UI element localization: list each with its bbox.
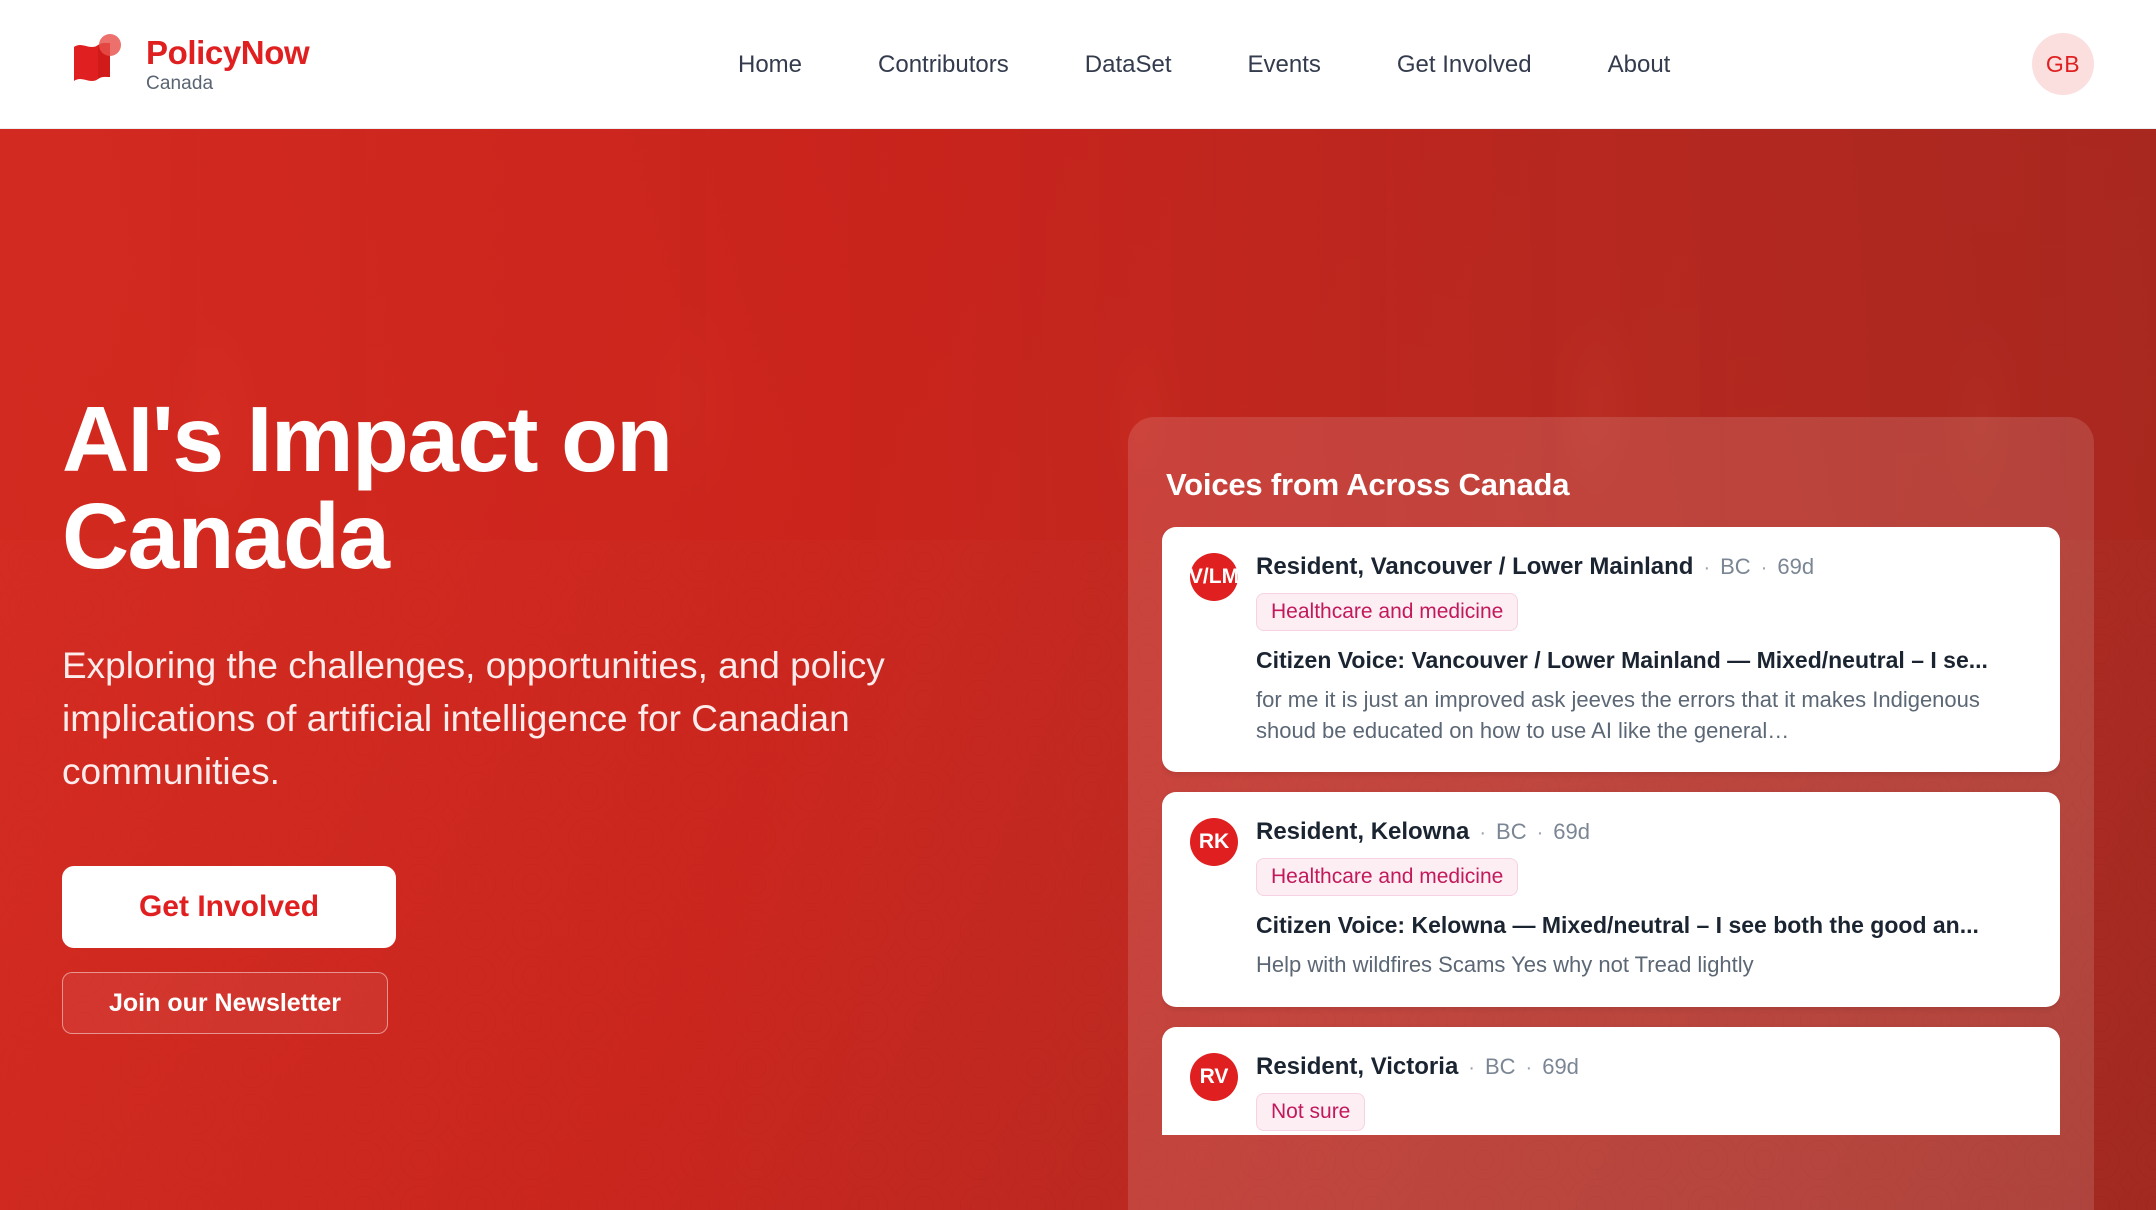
voice-meta: Resident, Vancouver / Lower Mainland · B… [1256,555,2032,579]
brand-logo[interactable]: PolicyNow Canada [66,33,309,95]
voice-card[interactable]: RK Resident, Kelowna · BC · 69d Healthca… [1162,792,2060,1006]
join-newsletter-button[interactable]: Join our Newsletter [62,972,388,1034]
voice-author: Resident, Kelowna [1256,818,1469,845]
hero-subtitle: Exploring the challenges, opportunities,… [62,640,992,798]
voice-avatar: RK [1190,818,1238,866]
hero-section: AI's Impact on Canada Exploring the chal… [0,129,2156,1210]
voice-topic-badge: Not sure [1256,1093,1365,1131]
nav-item-events[interactable]: Events [1209,51,1358,79]
voice-meta: Resident, Kelowna · BC · 69d [1256,820,2032,844]
voice-meta: Resident, Victoria · BC · 69d [1256,1055,2032,1079]
voices-panel-title: Voices from Across Canada [1166,467,2060,503]
voice-card[interactable]: RV Resident, Victoria · BC · 69d Not sur… [1162,1027,2060,1135]
voice-avatar: V/LM [1190,553,1238,601]
nav-item-about[interactable]: About [1570,51,1709,79]
voice-headline: Citizen Voice: Kelowna — Mixed/neutral –… [1256,912,2032,939]
nav-item-home[interactable]: Home [700,51,840,79]
voice-topic-badge: Healthcare and medicine [1256,593,1518,631]
meta-separator: · [1458,1057,1485,1079]
voice-avatar: RV [1190,1053,1238,1101]
voice-author: Resident, Vancouver / Lower Mainland [1256,553,1693,580]
voice-region: BC [1720,554,1751,579]
meta-separator: · [1516,1057,1543,1079]
hero-content: AI's Impact on Canada Exploring the chal… [62,391,1002,1034]
main-navigation: Home Contributors DataSet Events Get Inv… [700,0,1708,129]
nav-item-dataset[interactable]: DataSet [1047,51,1210,79]
hero-actions: Get Involved Join our Newsletter [62,866,1002,1034]
nav-item-get-involved[interactable]: Get Involved [1359,51,1570,79]
voice-topic-badge: Healthcare and medicine [1256,858,1518,896]
site-header: PolicyNow Canada Home Contributors DataS… [0,0,2156,129]
voice-timestamp: 69d [1542,1054,1579,1079]
meta-separator: · [1751,557,1778,579]
user-avatar[interactable]: GB [2032,33,2094,95]
voice-card[interactable]: V/LM Resident, Vancouver / Lower Mainlan… [1162,527,2060,772]
meta-separator: · [1693,557,1720,579]
voice-timestamp: 69d [1553,819,1590,844]
nav-item-contributors[interactable]: Contributors [840,51,1047,79]
voice-excerpt: for me it is just an improved ask jeeves… [1256,684,2032,746]
voice-headline: Citizen Voice: Vancouver / Lower Mainlan… [1256,647,2032,674]
flag-map-icon [66,33,128,95]
voices-panel: Voices from Across Canada V/LM Resident,… [1128,417,2094,1210]
brand-country: Canada [146,74,309,93]
voices-list[interactable]: V/LM Resident, Vancouver / Lower Mainlan… [1162,527,2060,1135]
get-involved-button[interactable]: Get Involved [62,866,396,948]
voice-region: BC [1496,819,1527,844]
meta-separator: · [1469,822,1496,844]
voice-excerpt: Help with wildfires Scams Yes why not Tr… [1256,949,2032,980]
voice-timestamp: 69d [1777,554,1814,579]
page-title: AI's Impact on Canada [62,391,1002,584]
voice-author: Resident, Victoria [1256,1053,1458,1080]
brand-name: PolicyNow [146,36,309,69]
voice-region: BC [1485,1054,1516,1079]
meta-separator: · [1527,822,1554,844]
